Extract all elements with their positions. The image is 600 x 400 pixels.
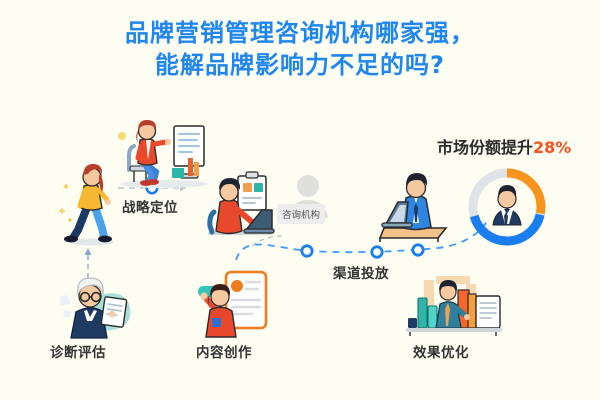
agency-avatar: 咨询机构 xyxy=(282,172,334,228)
title-line-2: 能解品牌影响力不足的吗? xyxy=(0,50,600,82)
stage-label-content: 内容创作 xyxy=(196,341,252,361)
market-share-donut-chart xyxy=(463,163,551,251)
infographic-canvas: 品牌营销管理咨询机构哪家强， 能解品牌影响力不足的吗? 市场份额提升28% xyxy=(0,0,600,400)
stage-label-diagnose: 诊断评估 xyxy=(50,341,106,361)
page-title: 品牌营销管理咨询机构哪家强， 能解品牌影响力不足的吗? xyxy=(0,18,600,81)
laptop-clipboard-worker-illustration xyxy=(202,166,278,250)
title-line-1: 品牌营销管理咨询机构哪家强， xyxy=(0,18,600,50)
kpi-market-share: 市场份额提升28% xyxy=(437,134,571,158)
stage-label-channel: 渠道投放 xyxy=(333,262,389,282)
sparkle-icon xyxy=(59,184,72,222)
agency-badge: 咨询机构 xyxy=(277,204,325,224)
kpi-label: 市场份额提升 xyxy=(437,138,533,157)
flow-node-icon xyxy=(302,246,312,256)
laptop-worker-illustration xyxy=(372,166,456,250)
analytics-illustration xyxy=(406,274,506,344)
consultant-document-illustration xyxy=(56,270,138,340)
stage-label-strategy: 战略定位 xyxy=(122,196,178,216)
presenter-illustration xyxy=(112,114,212,192)
stage-label-effect: 效果优化 xyxy=(413,341,469,361)
content-board-illustration xyxy=(188,266,276,340)
kpi-value: 28% xyxy=(533,138,571,157)
